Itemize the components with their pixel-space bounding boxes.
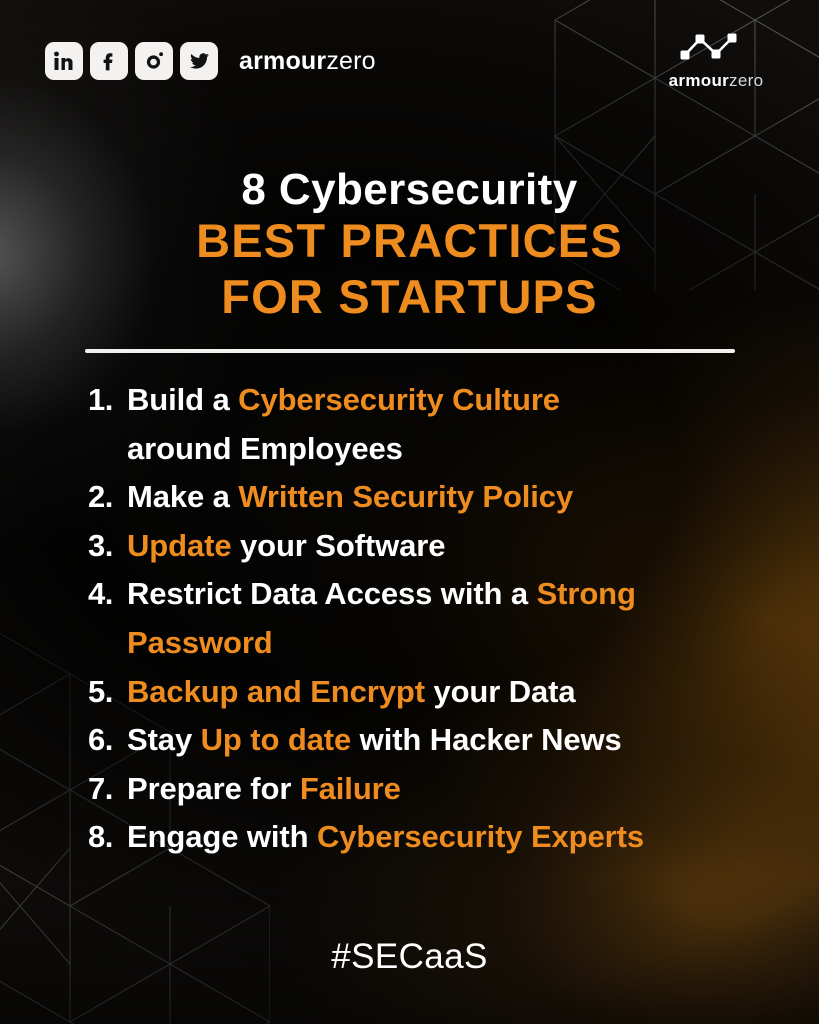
list-item-number: 2. [88,479,127,515]
list-item-text: Update your Software [127,528,445,564]
corner-logo-wordmark: armourzero [655,71,777,91]
armourzero-mark-icon [676,29,756,65]
footer-hashtag: #SECaaS [0,937,819,977]
list-item-number: 8. [88,819,127,855]
list-item: 2.Make a Written Security Policy [0,479,819,528]
list-item-text: Stay Up to date with Hacker News [127,722,622,758]
list-item-text: Backup and Encrypt your Data [127,674,576,710]
twitter-glyph [187,49,211,73]
list-item: 1.Build a Cybersecurity Culture [0,382,819,431]
list-item-text: Restrict Data Access with a Strong [127,576,636,612]
list-item-highlight: Strong [537,576,636,611]
linkedin-icon[interactable] [45,42,83,80]
list-item-number: 4. [88,576,127,612]
list-item-plain: Prepare for [127,771,300,806]
list-item-number: 6. [88,722,127,758]
list-item-text: Password [127,625,273,661]
list-item: 4.Restrict Data Access with a Strong [0,576,819,625]
list-item-text: around Employees [127,431,403,467]
list-item-highlight: Password [127,625,273,660]
list-item-plain: around Employees [127,431,403,466]
title-line-3: FOR STARTUPS [0,269,819,324]
brand-handle-light: zero [326,47,375,75]
list-item: 6.Stay Up to date with Hacker News [0,722,819,771]
instagram-icon[interactable] [135,42,173,80]
list-item-highlight: Backup and Encrypt [127,674,425,709]
list-item-highlight: Cybersecurity Experts [317,819,644,854]
list-item: 1.around Employees [0,431,819,480]
list-item: 7.Prepare for Failure [0,771,819,820]
list-item-number: 3. [88,528,127,564]
list-item-number: 7. [88,771,127,807]
list-item-text: Make a Written Security Policy [127,479,573,515]
corner-logo-word-light: zero [729,71,763,90]
facebook-glyph [97,49,121,73]
list-item-plain: your Software [231,528,445,563]
list-item-plain: Make a [127,479,238,514]
list-item-number: 5. [88,674,127,710]
list-item: 4.Password [0,625,819,674]
list-item-plain: with Hacker News [351,722,622,757]
list-item-text: Build a Cybersecurity Culture [127,382,560,418]
brand-handle: armourzero [239,47,376,76]
list-item-highlight: Failure [300,771,401,806]
list-item-plain: Restrict Data Access with a [127,576,537,611]
list-item-plain: Engage with [127,819,317,854]
title-divider [85,349,735,353]
list-item-plain: your Data [425,674,576,709]
page-title: 8 Cybersecurity BEST PRACTICES FOR START… [0,166,819,324]
brand-handle-bold: armour [239,47,326,75]
instagram-glyph [142,49,166,73]
list-item-highlight: Up to date [201,722,352,757]
list-item-plain: Build a [127,382,238,417]
list-item: 5.Backup and Encrypt your Data [0,674,819,723]
list-item-highlight: Cybersecurity Culture [238,382,560,417]
list-item-plain: Stay [127,722,201,757]
list-item-highlight: Written Security Policy [238,479,573,514]
best-practices-list: 1.Build a Cybersecurity Culture1.around … [0,382,819,868]
corner-logo: armourzero [655,29,777,91]
poster-canvas: armourzero armourzero 8 Cybersecurity BE… [0,0,819,1024]
list-item: 3.Update your Software [0,528,819,577]
list-item-text: Engage with Cybersecurity Experts [127,819,644,855]
social-header: armourzero [45,42,376,80]
list-item: 8.Engage with Cybersecurity Experts [0,819,819,868]
facebook-icon[interactable] [90,42,128,80]
corner-logo-word-bold: armour [669,71,729,90]
title-line-2: BEST PRACTICES [0,213,819,268]
title-line-1: 8 Cybersecurity [0,166,819,213]
list-item-number: 1. [88,382,127,418]
list-item-highlight: Update [127,528,231,563]
twitter-icon[interactable] [180,42,218,80]
linkedin-glyph [52,49,76,73]
list-item-text: Prepare for Failure [127,771,401,807]
